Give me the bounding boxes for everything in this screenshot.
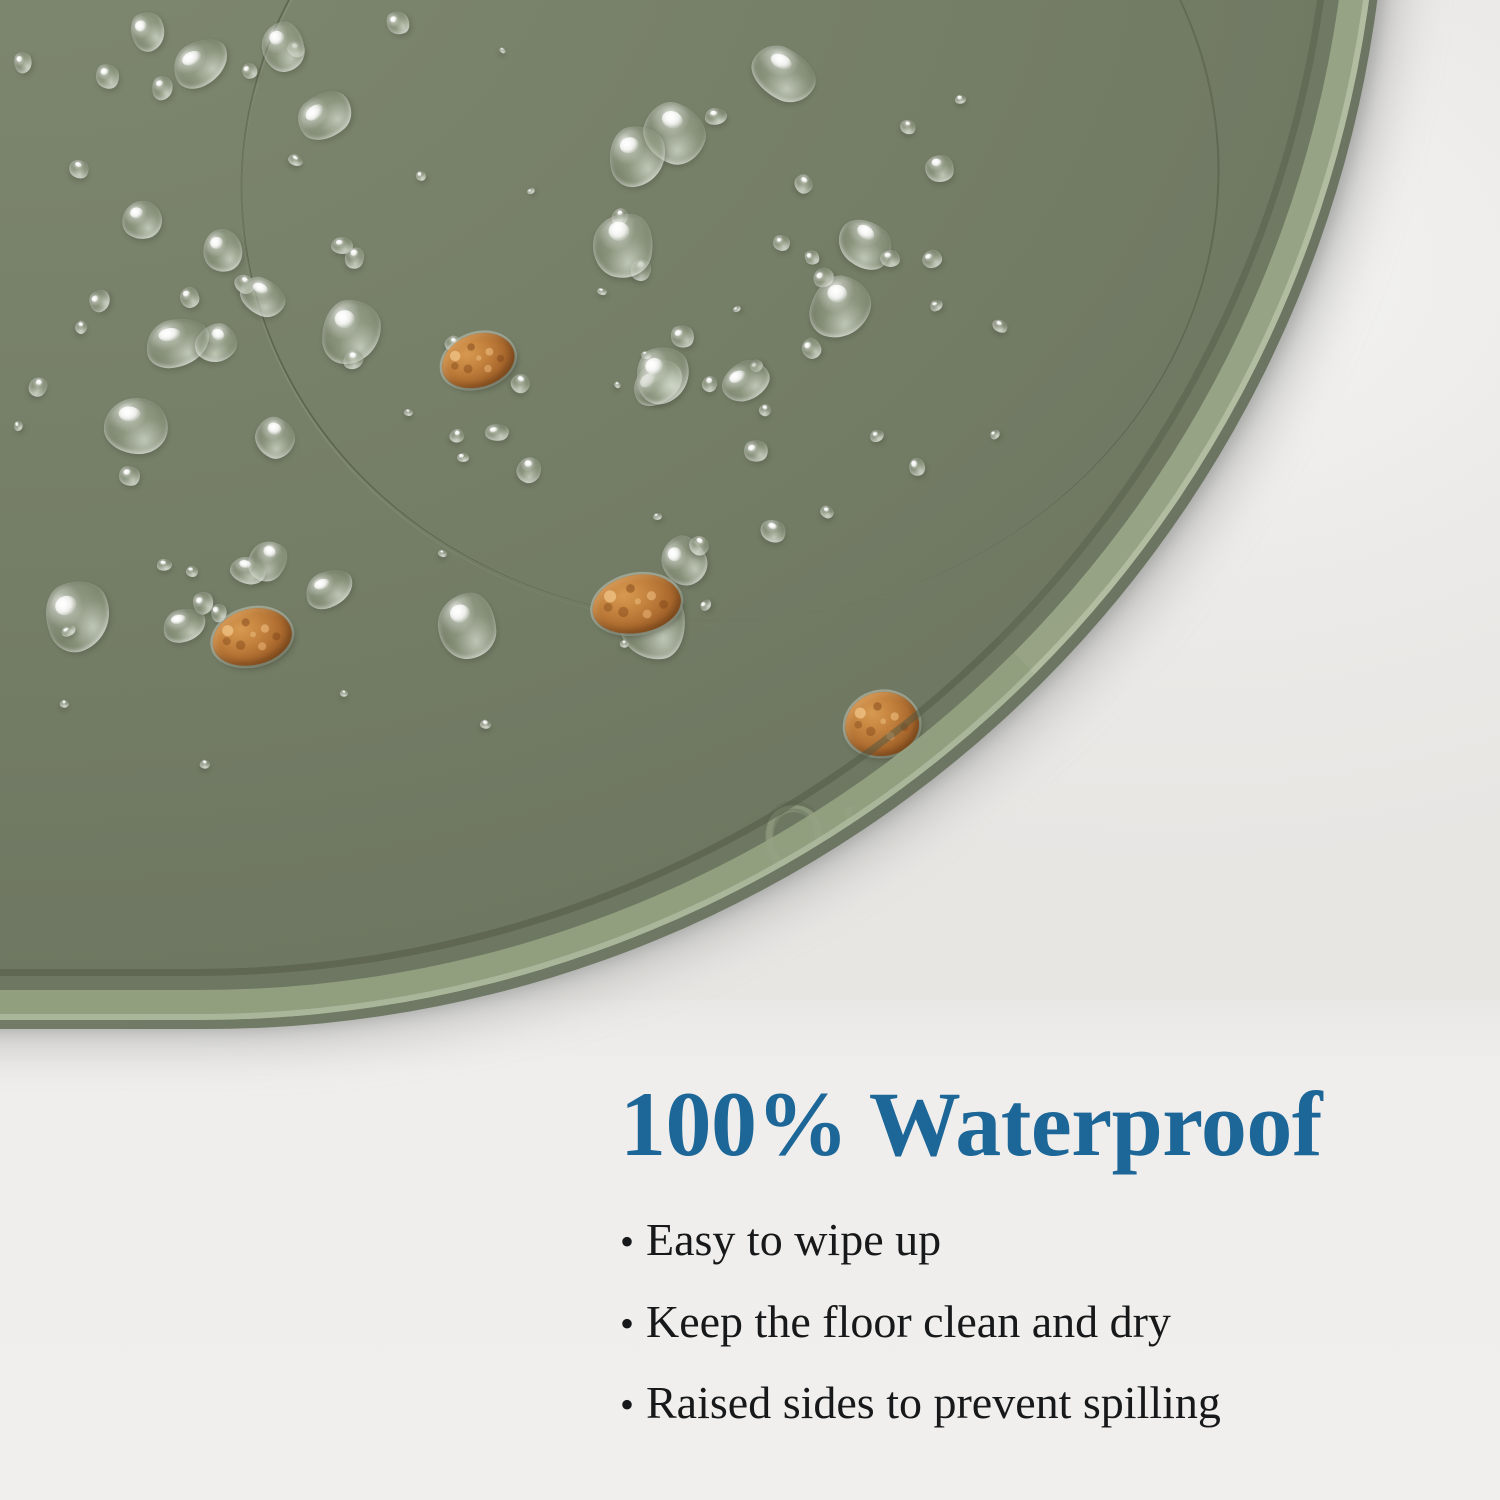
water-droplet bbox=[227, 553, 268, 587]
kibble-piece bbox=[207, 601, 297, 672]
water-droplet bbox=[34, 571, 122, 661]
bowl-recess-groove-highlight bbox=[197, 0, 1264, 673]
water-droplet bbox=[120, 199, 163, 241]
water-droplet bbox=[118, 465, 141, 486]
water-droplet bbox=[437, 549, 448, 558]
water-droplet bbox=[301, 564, 359, 614]
feature-bullet-label: Keep the floor clean and dry bbox=[646, 1296, 1171, 1348]
water-droplet bbox=[124, 6, 171, 56]
water-droplet bbox=[59, 698, 70, 709]
water-droplet bbox=[165, 30, 237, 96]
kibble-piece bbox=[842, 689, 921, 759]
water-droplet bbox=[479, 718, 493, 731]
feature-bullet-item: •Raised sides to prevent spilling bbox=[620, 1377, 1460, 1429]
water-droplet bbox=[13, 420, 24, 432]
silicone-pet-feeding-mat: OHMO bbox=[0, 0, 1380, 1020]
feature-bullet-label: Raised sides to prevent spilling bbox=[646, 1377, 1221, 1429]
water-droplet bbox=[84, 286, 115, 317]
marketing-copy-block: 100% Waterproof •Easy to wipe up•Keep th… bbox=[620, 1078, 1460, 1429]
water-droplet bbox=[189, 589, 218, 619]
water-droplet bbox=[240, 533, 295, 589]
water-droplet bbox=[66, 156, 92, 181]
water-droplet bbox=[185, 565, 198, 577]
feature-bullet-item: •Keep the floor clean and dry bbox=[620, 1296, 1460, 1348]
water-droplet bbox=[435, 591, 498, 661]
water-droplet bbox=[199, 226, 246, 276]
water-droplet bbox=[95, 63, 121, 90]
water-droplet bbox=[11, 49, 35, 75]
ohmo-embossed-logo: OHMO bbox=[760, 788, 1070, 888]
bullet-dot-icon: • bbox=[620, 1222, 646, 1262]
bullet-dot-icon: • bbox=[620, 1304, 646, 1344]
feature-bullet-label: Easy to wipe up bbox=[646, 1214, 941, 1266]
headline-waterproof: 100% Waterproof bbox=[620, 1078, 1460, 1170]
water-droplet bbox=[161, 605, 208, 644]
water-droplet bbox=[25, 374, 51, 401]
product-marketing-image: OHMO 100% Waterproof •Easy to wipe up•Ke… bbox=[0, 0, 1500, 1500]
water-droplet bbox=[156, 558, 173, 572]
water-droplet bbox=[199, 758, 212, 770]
water-droplet bbox=[72, 319, 89, 337]
feature-bullet-item: •Easy to wipe up bbox=[620, 1214, 1460, 1266]
water-droplet bbox=[619, 638, 630, 649]
water-droplet bbox=[208, 602, 228, 624]
water-droplet bbox=[143, 314, 213, 372]
water-droplet bbox=[178, 285, 202, 310]
bullet-dot-icon: • bbox=[620, 1385, 646, 1425]
water-droplet bbox=[102, 396, 170, 455]
water-droplet bbox=[150, 74, 175, 101]
feature-bullet-list: •Easy to wipe up•Keep the floor clean an… bbox=[620, 1214, 1460, 1429]
water-droplet bbox=[339, 689, 349, 699]
water-droplet bbox=[249, 411, 302, 464]
water-droplet bbox=[60, 622, 79, 639]
water-droplet bbox=[189, 315, 245, 371]
